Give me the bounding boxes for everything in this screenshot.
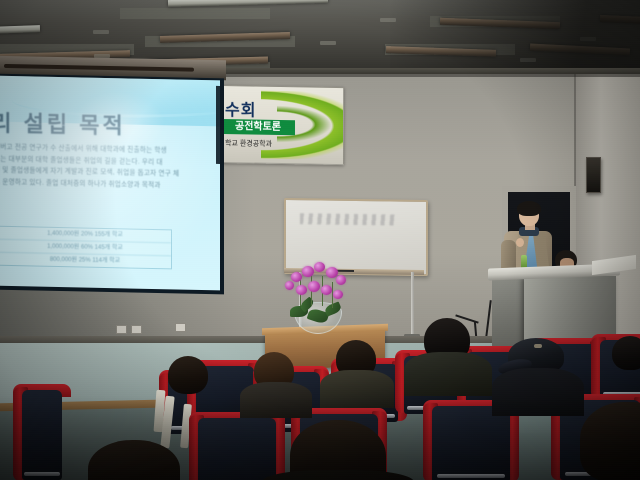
auditorium-seat (432, 406, 510, 480)
audience-shoulders (492, 368, 584, 416)
banner-title: 수회 (225, 96, 256, 121)
whiteboard (284, 198, 428, 276)
orchid-bloom (285, 281, 294, 290)
wall-outlet (175, 323, 186, 332)
projection-screen: 아리 설립 목적 멤버고 전공 연구가 수 산출에서 위해 대학과에 진출하는 … (0, 76, 220, 291)
banner-department: 학교 환경공학과 (225, 138, 272, 149)
audience-shoulders (320, 370, 394, 408)
wall-outlet (131, 325, 142, 334)
orchid-bloom (321, 285, 332, 295)
banner-subtitle: 공전학토론 (221, 119, 295, 135)
orchid-bloom (308, 281, 320, 292)
screen-edge-occluder (216, 86, 224, 164)
wall-speaker-icon (586, 157, 601, 193)
auditorium-seat (22, 390, 62, 480)
lecture-hall-photo: 수회 공전학토론 학교 환경공학과 아리 설립 목적 멤버고 전공 연구가 수 … (0, 0, 640, 480)
ceiling-vent (93, 30, 109, 34)
ceiling-light-fixture (168, 0, 328, 7)
audience-shoulders (404, 352, 492, 396)
whiteboard-writing (300, 213, 396, 225)
ceiling-light-fixture (0, 25, 40, 34)
whiteboard-stand-leg (411, 272, 414, 336)
orchid-bloom (291, 272, 302, 282)
screen-slot (4, 64, 194, 72)
audience-head (168, 356, 208, 394)
presenter-hair (517, 201, 541, 216)
orchid-bloom (302, 266, 314, 277)
ceiling-shadow (390, 0, 640, 76)
wall-outlet (116, 325, 127, 334)
screen-glare (0, 76, 220, 291)
auditorium-seat (198, 418, 276, 480)
orchid-bloom (336, 275, 346, 285)
ceiling-vent (320, 41, 336, 45)
orchid-bloom (314, 262, 325, 272)
audience-shoulders (240, 382, 312, 418)
podium-side (492, 272, 528, 350)
orchid-bloom (296, 285, 307, 295)
orchid-bloom (333, 290, 343, 299)
event-banner: 수회 공전학토론 학교 환경공학과 (216, 85, 344, 165)
cap-logo (534, 344, 542, 348)
presenter-hand (516, 238, 524, 247)
audience-head (612, 336, 640, 370)
